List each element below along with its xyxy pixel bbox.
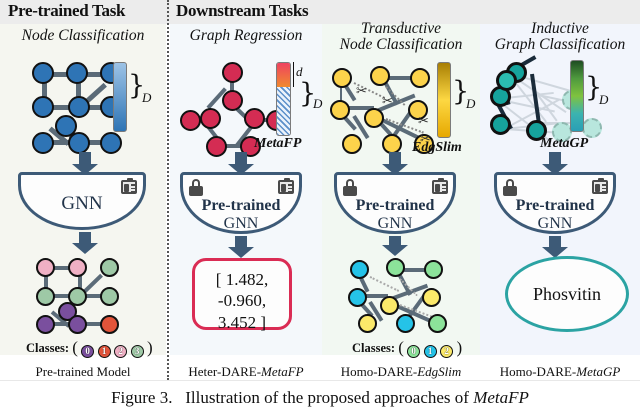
model-box-title: Pre-trained [183, 197, 299, 215]
figure-caption: Figure 3. Illustration of the proposed a… [0, 388, 640, 408]
dimension-label-edgslim: D [466, 96, 475, 112]
bottom-label-method: MetaGP [576, 364, 620, 379]
column-divider [167, 0, 169, 380]
scissors-icon: ✂ [382, 94, 393, 107]
dimension-label-pretrained: D [142, 90, 151, 106]
model-box-subtitle: GNN [183, 215, 299, 233]
arrow-gnn-to-output [72, 232, 98, 254]
lock-icon [343, 179, 357, 196]
embedding-bar-metafp-prompt [277, 63, 290, 87]
arrow-model-to-vector [228, 236, 254, 258]
bottom-label-method: MetaFP [261, 364, 304, 379]
class-chip-2: 2 [440, 345, 453, 358]
output-graph-pretrained [34, 256, 144, 336]
id-card-icon [121, 180, 137, 194]
figure-caption-text: Illustration of the proposed approaches … [185, 388, 473, 407]
bottom-divider [0, 380, 640, 381]
dimension-label-metagp: D [599, 92, 608, 108]
arrow-model-to-output-graph [382, 236, 408, 256]
vector-value-line-2: -0.960, [195, 290, 289, 311]
embedding-bar-pretrained [113, 62, 127, 132]
scissors-icon: ✂ [356, 84, 367, 97]
subtitle-graph-regression: Graph Regression [170, 27, 322, 45]
bottom-label-inductive: Homo-DARE-MetaGP [480, 364, 640, 380]
id-card-icon [278, 180, 294, 194]
method-label-metagp: MetaGP [540, 136, 588, 152]
bottom-label-text: Heter-DARE- [188, 364, 261, 379]
embedding-bar-edgslim [437, 62, 451, 138]
figure-panel: Pre-trained Task Downstream Tasks Node C… [0, 0, 640, 410]
arrow-model-to-prediction [542, 236, 568, 258]
bottom-label-graph-regression: Heter-DARE-MetaFP [170, 364, 322, 380]
vector-value-line-3: 3.452 ] [195, 312, 289, 333]
class-chip-0: 0 [407, 345, 420, 358]
model-box-pretrained-gnn-metafp[interactable]: Pre-trained GNN [180, 172, 302, 234]
class-chip-2: 2 [114, 345, 127, 358]
output-graph-transductive [348, 256, 458, 332]
model-box-subtitle: GNN [497, 215, 613, 233]
classes-label: Classes: [352, 341, 395, 355]
arrow-pretrained-to-gnn [72, 152, 98, 174]
class-chip-3: 3 [131, 345, 144, 358]
classes-label: Classes: [26, 341, 69, 355]
vector-value-line-1: [ 1.482, [195, 269, 289, 290]
subtitle-inductive-line2: Graph Classification [480, 36, 640, 54]
bottom-label-pretrained: Pre-trained Model [0, 364, 166, 380]
arrow-metagp-to-model [542, 152, 568, 174]
classes-legend-pretrained: Classes: ( 0 1 2 3 ) [26, 338, 153, 358]
model-box-title: Pre-trained [337, 197, 453, 215]
model-box-subtitle: GNN [337, 215, 453, 233]
header-downstream-tasks: Downstream Tasks [176, 1, 308, 21]
model-box-title: Pre-trained [497, 197, 613, 215]
prediction-label: Phosvitin [533, 284, 601, 305]
bottom-label-method: EdgSlim [417, 364, 461, 379]
output-vector-box: [ 1.482, -0.960, 3.452 ] [192, 258, 292, 330]
subtitle-transductive-line2: Node Classification [322, 36, 480, 54]
subtitle-node-classification: Node Classification [0, 27, 166, 45]
arrow-edgslim-to-model [382, 152, 408, 174]
lock-icon [189, 179, 203, 196]
embedding-bar-metafp-base [277, 87, 290, 135]
dimension-label-metafp: D [313, 96, 322, 112]
header-pretrained-task: Pre-trained Task [8, 1, 125, 21]
class-chip-0: 0 [81, 345, 94, 358]
scissors-icon: ✂ [418, 114, 429, 127]
id-card-icon [592, 180, 608, 194]
model-box-pretrained-gnn-edgslim[interactable]: Pre-trained GNN [334, 172, 456, 234]
id-card-icon [432, 180, 448, 194]
lock-icon [503, 179, 517, 196]
bottom-label-transductive: Homo-DARE-EdgSlim [322, 364, 480, 380]
class-chip-1: 1 [424, 345, 437, 358]
arrow-metafp-to-model [228, 152, 254, 174]
dim-tick-d [293, 62, 294, 87]
model-box-pretrained-gnn-metagp[interactable]: Pre-trained GNN [494, 172, 616, 234]
class-chip-1: 1 [98, 345, 111, 358]
bottom-label-text: Pre-trained Model [36, 364, 131, 379]
figure-caption-italic: MetaFP [473, 388, 529, 407]
method-label-metafp: MetaFP [254, 136, 301, 152]
method-label-edgslim: EdgSlim [412, 140, 462, 156]
bottom-label-text: Homo-DARE- [341, 364, 418, 379]
output-prediction-ellipse: Phosvitin [505, 256, 629, 332]
bottom-label-text: Homo-DARE- [500, 364, 577, 379]
embedding-bar-metafp [276, 62, 291, 136]
model-box-gnn-label: GNN [21, 193, 143, 215]
classes-legend-transductive: Classes: ( 0 1 2 ) [352, 338, 462, 358]
embedding-bar-metagp [570, 60, 584, 132]
figure-caption-prefix: Figure 3. [111, 388, 172, 407]
